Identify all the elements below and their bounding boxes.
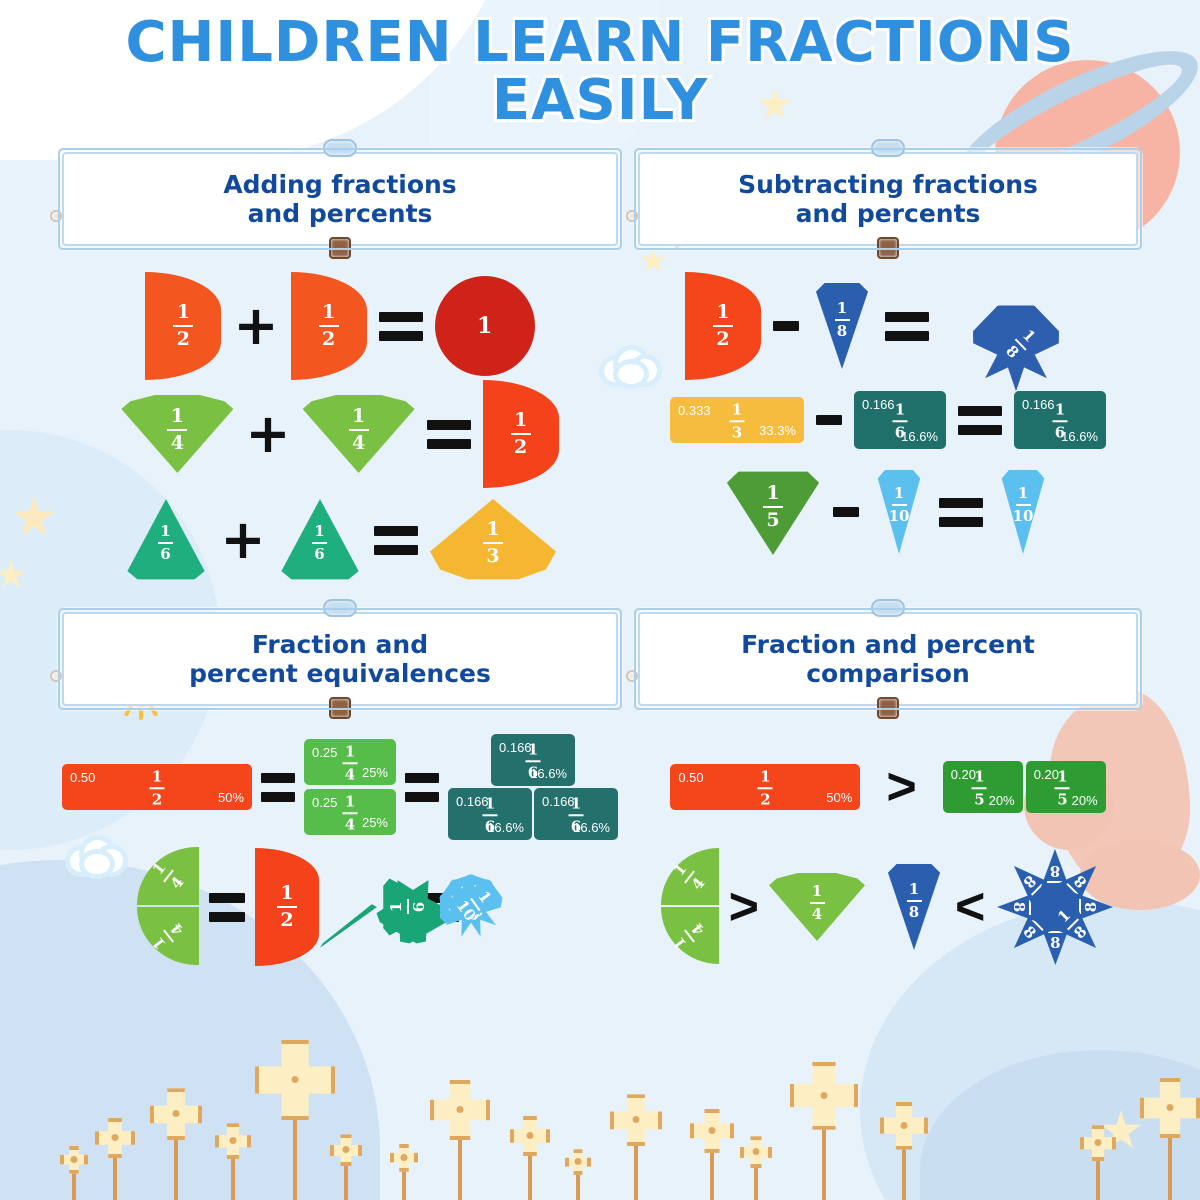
minus-operator: [833, 507, 859, 517]
percent-value: 16.6%: [530, 766, 567, 781]
denominator: 4: [345, 817, 355, 832]
less-than-operator: <: [955, 882, 985, 932]
numerator: 1: [152, 769, 162, 784]
title-line-1: Children learn fractions: [0, 14, 1200, 72]
denominator: 4: [171, 434, 184, 453]
percent-tile-quarter: 0.25 1 4 25%: [304, 789, 396, 835]
numerator: 1: [716, 303, 729, 322]
equals-operator: [379, 312, 423, 341]
greater-than-operator: >: [886, 762, 916, 812]
fraction-piece-tenth: 1 10: [871, 470, 927, 554]
fraction-piece-eighth: 1 8: [811, 283, 873, 369]
denominator: 5: [974, 792, 984, 807]
equals-operator: [405, 773, 439, 802]
numerator: 1: [671, 861, 689, 878]
header-line-2: comparison: [806, 659, 970, 688]
percent-tile-quarter: 0.25 1 4 25%: [304, 739, 396, 785]
percent-tile-fifth: 0.20 1 5 20%: [1026, 761, 1106, 813]
numerator: 1: [895, 402, 905, 417]
percent-value: 25%: [362, 765, 388, 780]
pinwheel-flower-icon: [690, 1100, 734, 1200]
header-line-2: and percents: [248, 199, 433, 228]
denominator: 2: [152, 792, 162, 807]
numerator: 1: [909, 882, 919, 897]
denominator: 6: [314, 547, 324, 562]
equation-row: 1 6 + 1 6: [62, 488, 618, 592]
tape-icon: [323, 599, 357, 617]
pinwheel-flower-icon: [255, 1024, 335, 1200]
equation-row: 1 4 + 1 4: [62, 380, 618, 488]
denominator: 8: [837, 324, 847, 339]
pin-icon: [626, 670, 638, 682]
header-line-1: Fraction and: [252, 630, 428, 659]
section-header-equivalences: Fraction and percent equivalences: [62, 612, 618, 706]
percent-tile-sixth: 0.166 1 6 16.6%: [854, 391, 946, 449]
title-line-2: easily: [0, 72, 1200, 130]
denominator: 2: [716, 330, 729, 349]
denominator: 2: [322, 330, 335, 349]
percent-value: 16.6%: [1061, 429, 1098, 444]
percent-value: 50%: [826, 790, 852, 805]
tile-stack-quarters: 0.25 1 4 25% 0.25: [304, 739, 396, 835]
decimal-value: 0.166: [1022, 397, 1055, 412]
fraction-piece-half: 1 2: [483, 380, 559, 488]
clip-icon: [329, 697, 351, 719]
pinwheel-flower-icon: [390, 1138, 418, 1200]
pinwheel-flower-icon: [510, 1108, 550, 1200]
decimal-value: 0.166: [862, 397, 895, 412]
pinwheel-flower-icon: [330, 1128, 362, 1200]
header-line-1: Adding fractions: [223, 170, 456, 199]
percent-value: 16.6%: [487, 820, 524, 835]
numerator: 1: [571, 796, 581, 811]
header-line-2: and percents: [796, 199, 981, 228]
half-from-sixths: 161616: [341, 846, 413, 968]
denominator: 2: [760, 792, 770, 807]
equals-operator: [374, 526, 418, 555]
denominator: 4: [812, 907, 822, 922]
equation-row: 1 4 1 4 >: [638, 842, 1138, 972]
numerator: 1: [322, 303, 335, 322]
percent-tile-third: 0.333 1 3 33.3%: [670, 397, 804, 443]
pin-icon: [50, 670, 62, 682]
percent-tile-sixth: 0.166 1 6 16.6%: [534, 788, 618, 840]
numerator: 1: [485, 796, 495, 811]
equation-row: 1 4 1 4: [62, 842, 618, 972]
decimal-value: 0.333: [678, 403, 711, 418]
pinwheel-flower-icon: [880, 1092, 928, 1200]
numerator: 1: [974, 769, 984, 784]
numerator: 1: [177, 303, 190, 322]
minus-operator: [773, 321, 799, 331]
equation-row: 1 5 1 10: [638, 460, 1138, 564]
pinwheel-flower-icon: [1140, 1066, 1200, 1200]
fraction-piece-half: 1 2: [255, 848, 319, 966]
numerator: 1: [161, 524, 171, 539]
percent-value: 16.6%: [901, 429, 938, 444]
fraction-piece-fifth: 1 5: [725, 469, 821, 555]
denominator: 8: [909, 905, 919, 920]
pinwheel-flower-icon: [610, 1084, 662, 1200]
tile-group-fifths: 0.20 1 5 20% 0.20: [943, 761, 1106, 813]
denominator: 4: [168, 920, 186, 937]
numerator: 1: [171, 407, 184, 426]
denominator: 4: [345, 767, 355, 782]
numerator: 1: [812, 884, 822, 899]
pinwheel-flower-icon: [430, 1068, 490, 1200]
denominator: 2: [514, 438, 527, 457]
fraction-piece-whole: 1: [435, 276, 535, 376]
denominator: 10: [1013, 509, 1034, 524]
panel-subtracting: Subtracting fractions and percents 1 2: [638, 152, 1138, 592]
greater-than-operator: >: [729, 882, 759, 932]
pinwheel-flower-icon: [215, 1116, 251, 1200]
header-line-2: percent equivalences: [189, 659, 491, 688]
percent-tile-half: 0.50 1 2 50%: [62, 764, 252, 810]
pinwheel-flower-icon: [565, 1144, 591, 1200]
fraction-piece-half: 1 2: [291, 272, 367, 380]
decimal-value: 0.25: [312, 745, 337, 760]
numerator: 1: [1055, 402, 1065, 417]
denominator: 4: [352, 434, 365, 453]
fraction-piece-quarter: 1 4: [769, 873, 865, 941]
equals-operator: [209, 893, 245, 922]
plus-operator: +: [245, 414, 290, 454]
fraction-piece-sixth: 1 6: [278, 499, 362, 581]
denominator: 6: [161, 547, 171, 562]
denominator: 5: [1057, 792, 1067, 807]
equation-rows-subtracting: 1 2 1 8: [638, 272, 1138, 564]
numerator: 1: [150, 934, 168, 951]
plus-operator: +: [220, 520, 265, 560]
equation-row: 0.333 1 3 33.3% 0.166 1: [638, 380, 1138, 460]
decimal-value: 0.50: [70, 770, 95, 785]
circle-from-eighths: 1818181818181818: [995, 847, 1115, 967]
denominator: 2: [177, 330, 190, 349]
tape-icon: [871, 599, 905, 617]
tape-icon: [871, 139, 905, 157]
equation-row: 1 2 + 1 2 1: [62, 272, 618, 380]
numerator: 1: [314, 524, 324, 539]
numerator: 1: [1057, 769, 1067, 784]
whole-label: 1: [477, 313, 492, 339]
percent-value: 16.6%: [573, 820, 610, 835]
sections-grid: Adding fractions and percents 1 2 +: [0, 152, 1200, 972]
equals-operator: [261, 773, 295, 802]
numerator: 1: [345, 794, 355, 809]
clip-icon: [877, 697, 899, 719]
plus-operator: +: [233, 306, 278, 346]
equation-rows-equivalences: 0.50 1 2 50% 0.25: [62, 732, 618, 972]
page-title: Children learn fractions easily: [0, 0, 1200, 130]
decimal-value: 0.25: [312, 795, 337, 810]
numerator: 1: [150, 860, 168, 877]
numerator: 1: [671, 934, 689, 951]
equals-operator: [939, 498, 983, 527]
panel-comparison: Fraction and percent comparison 0.50 1 2: [638, 612, 1138, 972]
pinwheel-garden: [0, 1070, 1200, 1200]
pin-icon: [626, 210, 638, 222]
denominator: 4: [168, 874, 186, 891]
pinwheel-flower-icon: [95, 1110, 135, 1200]
percent-value: 20%: [989, 793, 1015, 808]
fraction-piece-eighth: 1 8: [883, 864, 945, 950]
denominator: 3: [732, 425, 742, 440]
denominator: 10: [889, 509, 910, 524]
percent-value: 20%: [1072, 793, 1098, 808]
clip-icon: [877, 237, 899, 259]
panel-equivalences: Fraction and percent equivalences 0.50 1…: [62, 612, 618, 972]
header-line-1: Fraction and percent: [741, 630, 1035, 659]
section-header-comparison: Fraction and percent comparison: [638, 612, 1138, 706]
pinwheel-flower-icon: [790, 1048, 858, 1200]
section-header-subtracting: Subtracting fractions and percents: [638, 152, 1138, 246]
equation-rows-comparison: 0.50 1 2 50% > 0.20: [638, 732, 1138, 972]
header-line-1: Subtracting fractions: [738, 170, 1038, 199]
numerator: 1: [486, 520, 499, 539]
percent-tile-sixth: 0.166 1 6 16.6%: [491, 734, 575, 786]
percent-tile-sixth: 0.166 1 6 16.6%: [448, 788, 532, 840]
percent-tile-sixth: 0.166 1 6 16.6%: [1014, 391, 1106, 449]
fraction-piece-third: 1 3: [430, 499, 556, 581]
denominator: 3: [486, 547, 499, 566]
numerator: 1: [894, 486, 904, 501]
pin-icon: [50, 210, 62, 222]
fraction-piece-tenth: 1 10: [995, 470, 1051, 554]
fraction-piece-quarter: 1 4: [303, 395, 415, 473]
minus-operator: [816, 415, 842, 425]
denominator: 2: [280, 911, 293, 930]
fraction-piece-quarter: 1 4: [121, 395, 233, 473]
tile-pyramid-sixths: 0.166 1 6 16.6% 0.166: [448, 734, 618, 840]
decimal-value: 0.50: [678, 770, 703, 785]
numerator: 1: [1018, 486, 1028, 501]
half-from-quarters: 1 4 1 4: [661, 848, 719, 966]
numerator: 1: [837, 301, 847, 316]
numerator: 1: [760, 769, 770, 784]
percent-tile-half: 0.50 1 2 50%: [670, 764, 860, 810]
numerator: 1: [528, 742, 538, 757]
denominator: 6: [412, 902, 427, 912]
numerator: 1: [389, 902, 404, 912]
denominator: 4: [690, 920, 708, 937]
half-from-tenths: 110110110110110: [469, 845, 543, 969]
percent-tile-fifth: 0.20 1 5 20%: [943, 761, 1023, 813]
denominator: 5: [766, 511, 779, 530]
fraction-fan-eighths: 1 8 1 8: [941, 278, 1091, 374]
numerator: 1: [514, 411, 527, 430]
equals-operator: [885, 312, 929, 341]
numerator: 1: [732, 402, 742, 417]
half-from-quarters: 1 4 1 4: [137, 847, 199, 967]
fraction-piece-half: 1 2: [145, 272, 221, 380]
numerator: 1: [280, 884, 293, 903]
fraction-piece-half: 1 2: [685, 272, 761, 380]
equation-row: 0.50 1 2 50% > 0.20: [638, 732, 1138, 842]
denominator: 4: [690, 875, 708, 892]
fraction-piece-sixth: 1 6: [124, 499, 208, 581]
tape-icon: [323, 139, 357, 157]
section-header-adding: Adding fractions and percents: [62, 152, 618, 246]
pinwheel-flower-icon: [60, 1140, 88, 1200]
pinwheel-flower-icon: [740, 1130, 772, 1200]
numerator: 1: [766, 484, 779, 503]
percent-value: 33.3%: [759, 423, 796, 438]
numerator: 1: [345, 744, 355, 759]
equals-operator: [427, 420, 471, 449]
pinwheel-flower-icon: [1080, 1118, 1116, 1200]
percent-value: 50%: [218, 790, 244, 805]
numerator: 1: [475, 889, 493, 906]
equation-rows-adding: 1 2 + 1 2 1: [62, 272, 618, 592]
panel-adding: Adding fractions and percents 1 2 +: [62, 152, 618, 592]
percent-value: 25%: [362, 815, 388, 830]
numerator: 1: [352, 407, 365, 426]
clip-icon: [329, 237, 351, 259]
equals-operator: [958, 406, 1002, 435]
pinwheel-flower-icon: [150, 1078, 202, 1200]
equation-row: 0.50 1 2 50% 0.25: [62, 732, 618, 842]
equation-row: 1 2 1 8: [638, 272, 1138, 380]
